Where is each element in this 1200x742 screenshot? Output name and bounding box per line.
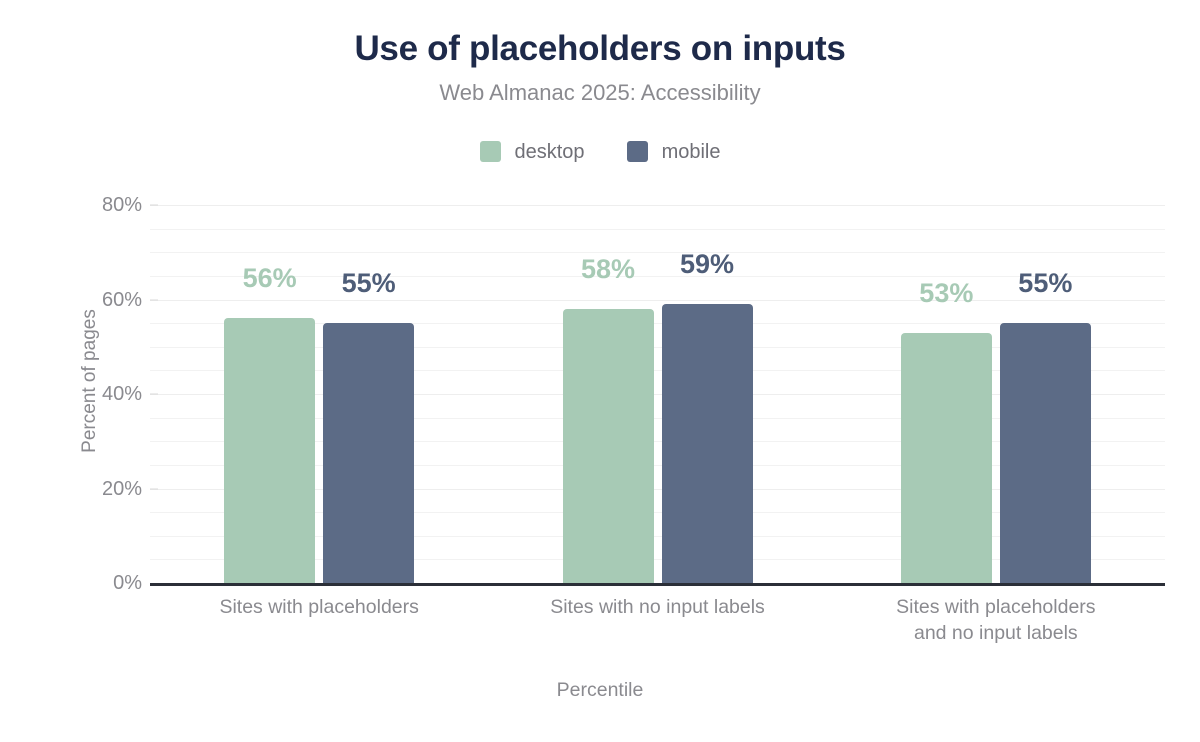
y-axis-tick-label: 40% xyxy=(22,384,142,404)
y-axis-tick-mark xyxy=(150,205,158,206)
bar-value-label-mobile-2: 55% xyxy=(1018,270,1072,297)
bar-value-label-desktop-0: 56% xyxy=(243,265,297,292)
y-axis-tick-mark xyxy=(150,299,158,300)
y-axis-tick-label: 60% xyxy=(22,290,142,310)
y-axis-tick-mark xyxy=(150,488,158,489)
bar-mobile-1[interactable] xyxy=(662,304,753,583)
bar-mobile-2[interactable] xyxy=(1000,323,1091,583)
bar-value-label-desktop-2: 53% xyxy=(919,280,973,307)
x-axis-category-label: Sites with placeholders and no input lab… xyxy=(896,594,1095,647)
gridline xyxy=(150,276,1165,277)
y-axis-tick-label: 0% xyxy=(22,573,142,593)
bar-desktop-2[interactable] xyxy=(901,333,992,583)
bar-value-label-mobile-0: 55% xyxy=(342,270,396,297)
bar-mobile-0[interactable] xyxy=(323,323,414,583)
chart-plot: Percent of pages 0%20%40%60%80% 56%55%58… xyxy=(0,0,1200,742)
x-axis-category-label: Sites with no input labels xyxy=(550,594,765,620)
bar-desktop-1[interactable] xyxy=(563,309,654,583)
x-axis-line xyxy=(150,583,1165,586)
gridline xyxy=(150,229,1165,230)
y-axis-title-text: Percent of pages xyxy=(79,309,101,453)
gridline xyxy=(150,252,1165,253)
gridline xyxy=(150,300,1165,301)
y-axis-title: Percent of pages xyxy=(18,0,162,742)
bar-value-label-mobile-1: 59% xyxy=(680,251,734,278)
y-axis-tick-label: 20% xyxy=(22,479,142,499)
y-axis-tick-mark xyxy=(150,394,158,395)
y-axis-tick-label: 80% xyxy=(22,195,142,215)
bar-desktop-0[interactable] xyxy=(224,318,315,583)
bar-value-label-desktop-1: 58% xyxy=(581,256,635,283)
x-axis-title: Percentile xyxy=(0,679,1200,702)
gridline xyxy=(150,205,1165,206)
x-axis-category-label: Sites with placeholders xyxy=(219,594,418,620)
